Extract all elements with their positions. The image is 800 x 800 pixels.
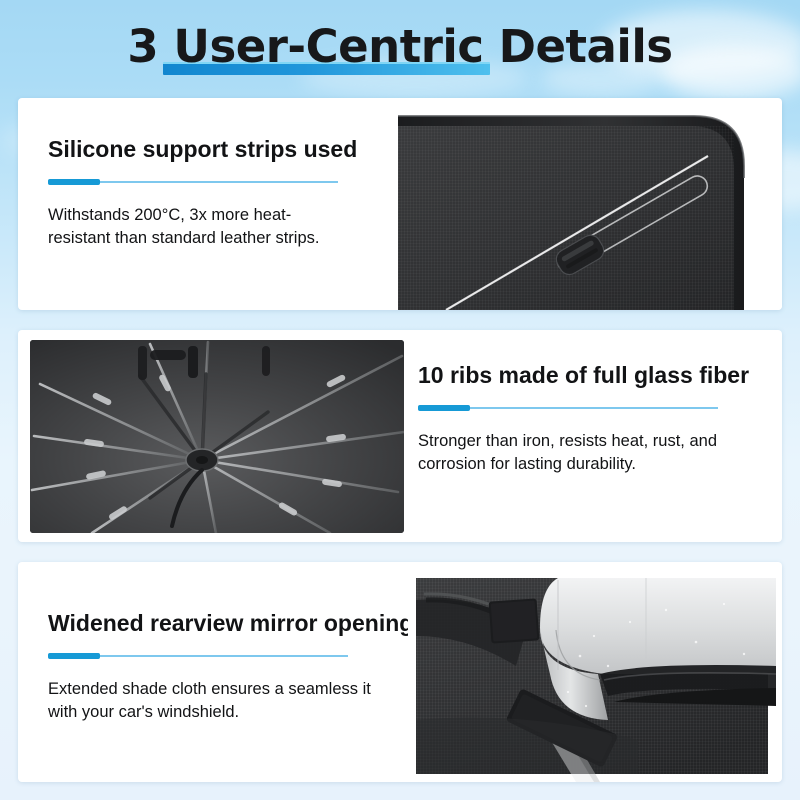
card-1-body: Withstands 200°C, 3x more heat-resistant…	[48, 204, 348, 250]
silicone-strip-illustration	[398, 108, 782, 310]
card-2-text-block: 10 ribs made of full glass fiber Stronge…	[418, 362, 782, 476]
page-title-area: 3 User-Centric Details	[0, 14, 800, 80]
glass-fiber-ribs-photo	[30, 340, 404, 533]
card-3-heading: Widened rearview mirror opening	[48, 610, 428, 637]
umbrella-ribs-illustration	[30, 340, 404, 533]
divider-thin-segment	[100, 655, 348, 657]
card-1-text-block: Silicone support strips used Withstands …	[48, 136, 398, 250]
divider-thin-segment	[470, 407, 718, 409]
divider-accent-segment	[48, 179, 100, 185]
card-2-divider	[418, 405, 718, 411]
card-2-body: Stronger than iron, resists heat, rust, …	[418, 430, 738, 476]
card-3-divider	[48, 653, 348, 659]
divider-thin-segment	[100, 181, 338, 183]
card-3-body: Extended shade cloth ensures a seamless …	[48, 678, 378, 724]
detail-card-1: Silicone support strips used Withstands …	[18, 98, 782, 310]
card-2-heading: 10 ribs made of full glass fiber	[418, 362, 782, 389]
card-3-text-block: Widened rearview mirror opening Extended…	[48, 610, 428, 724]
page-title: 3 User-Centric Details	[0, 14, 800, 80]
infographic-page: 3 User-Centric Details Silicone support …	[0, 0, 800, 800]
card-1-heading: Silicone support strips used	[48, 136, 398, 163]
detail-card-3: Widened rearview mirror opening Extended…	[18, 562, 782, 782]
rearview-mirror-opening-photo	[408, 570, 776, 782]
divider-accent-segment	[418, 405, 470, 411]
detail-card-2: 10 ribs made of full glass fiber Stronge…	[18, 330, 782, 542]
divider-accent-segment	[48, 653, 100, 659]
silicone-support-strip-photo	[398, 108, 782, 310]
mirror-opening-illustration	[408, 570, 776, 782]
card-1-divider	[48, 179, 338, 185]
